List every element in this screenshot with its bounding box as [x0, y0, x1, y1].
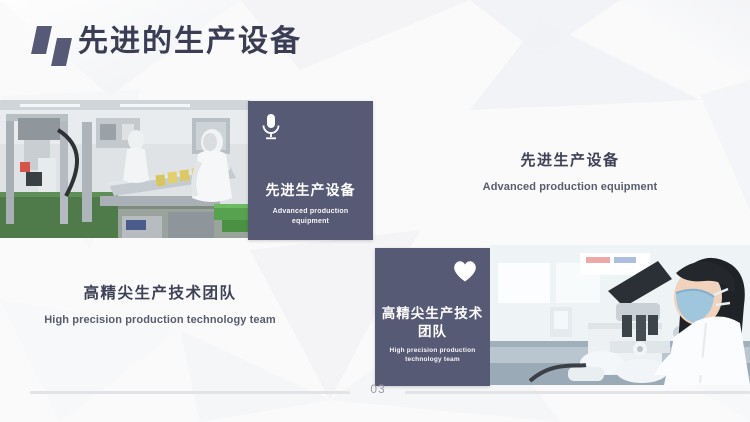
text-block-team-caption: 高精尖生产技术团队 High precision production tech… [30, 283, 290, 328]
footer-rule-left [30, 391, 350, 394]
caption-title-en: High precision production technology tea… [30, 313, 290, 328]
heart-icon [452, 259, 478, 288]
card-text-block: 高精尖生产技术团队 High precision production tech… [375, 305, 490, 364]
microphone-icon [260, 113, 282, 146]
card-title-cn: 高精尖生产技术团队 [381, 305, 484, 341]
photo-lab-microscope [490, 245, 750, 385]
text-block-equipment-caption: 先进生产设备 Advanced production equipment [440, 150, 700, 195]
caption-title-en: Advanced production equipment [440, 180, 700, 195]
slide-root: 先进的生产设备 [0, 0, 750, 422]
card-advanced-production-equipment[interactable]: 先进生产设备 Advanced production equipment [248, 101, 373, 240]
footer-rule-right [405, 391, 750, 394]
photo-factory-production-line [0, 100, 250, 238]
card-title-en: High precision production technology tea… [381, 346, 484, 364]
page-number: 03 [358, 382, 398, 396]
logo-bar-right [51, 38, 72, 66]
caption-title-cn: 先进生产设备 [440, 150, 700, 172]
card-text-block: 先进生产设备 Advanced production equipment [248, 181, 373, 226]
caption-title-cn: 高精尖生产技术团队 [30, 283, 290, 305]
card-title-en: Advanced production equipment [254, 207, 367, 226]
card-title-cn: 先进生产设备 [254, 181, 367, 200]
double-slash-logo-icon [30, 24, 80, 70]
logo-bar-left [31, 26, 52, 54]
card-high-precision-team[interactable]: 高精尖生产技术团队 High precision production tech… [375, 248, 490, 386]
page-title: 先进的生产设备 [78, 19, 302, 65]
slide-header: 先进的生产设备 [0, 0, 750, 88]
